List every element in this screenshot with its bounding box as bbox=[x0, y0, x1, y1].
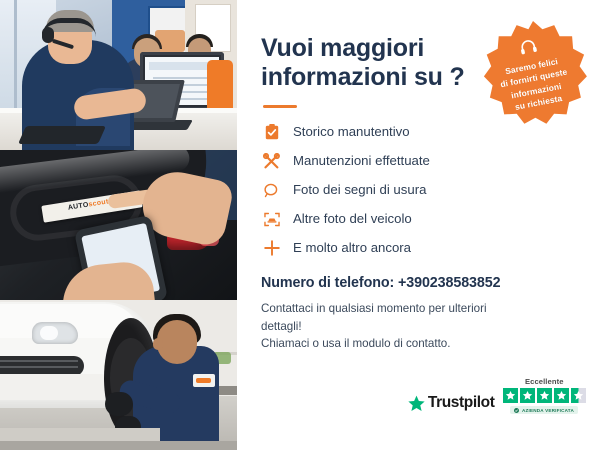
star-3-icon bbox=[537, 388, 553, 404]
verified-check-icon bbox=[514, 408, 519, 413]
car-frame-icon bbox=[261, 209, 282, 229]
subtext-line-2: Chiamaci o usa il modulo di contatto. bbox=[261, 337, 450, 350]
star-4-icon bbox=[554, 388, 570, 404]
plus-icon bbox=[261, 238, 282, 258]
clipboard-check-icon bbox=[261, 122, 282, 142]
contact-subtext: Contattaci in qualsiasi momento per ulte… bbox=[261, 300, 521, 353]
trustpilot-brand: Trustpilot bbox=[428, 394, 495, 412]
title-divider bbox=[263, 105, 297, 108]
list-item: Manutenzioni effettuate bbox=[261, 151, 574, 171]
magnifier-icon bbox=[261, 180, 282, 200]
trustpilot-score-block: Eccellente bbox=[503, 377, 587, 415]
feature-label: E molto altro ancora bbox=[293, 240, 411, 256]
star-5-icon bbox=[571, 388, 587, 404]
content-panel: Saremo felici di fornirti queste informa… bbox=[237, 0, 600, 450]
feature-list: Storico manutentivo Manutenzioni effettu… bbox=[261, 122, 574, 258]
star-1-icon bbox=[503, 388, 519, 404]
info-on-request-badge: Saremo felici di fornirti queste informa… bbox=[478, 19, 588, 129]
phone-label: Numero di telefono: bbox=[261, 275, 394, 291]
star-rating bbox=[503, 388, 587, 404]
headline-line-1: Vuoi maggiori bbox=[261, 34, 424, 62]
rating-caption: Eccellente bbox=[525, 377, 564, 386]
trustpilot-logo: Trustpilot bbox=[408, 394, 495, 414]
feature-label: Altre foto del veicolo bbox=[293, 211, 412, 227]
trustpilot-star-icon bbox=[408, 395, 425, 412]
vehicle-inspection-photo: AUTOscout bbox=[0, 150, 237, 300]
verified-company-badge: AZIENDA VERIFICATA bbox=[510, 406, 578, 414]
star-2-icon bbox=[520, 388, 536, 404]
trustpilot-rating[interactable]: Trustpilot Eccellente bbox=[408, 377, 586, 415]
phone-number[interactable]: +390238583852 bbox=[398, 275, 500, 291]
headline-line-2: informazioni su ? bbox=[261, 63, 465, 91]
headset-icon bbox=[517, 37, 539, 60]
call-center-agents-photo bbox=[0, 0, 237, 150]
list-item: Foto dei segni di usura bbox=[261, 180, 574, 200]
phone-number-line: Numero di telefono: +390238583852 bbox=[261, 275, 574, 291]
page-title: Vuoi maggiori informazioni su ? bbox=[261, 34, 476, 92]
promo-banner: AUTOscout bbox=[0, 0, 600, 450]
feature-label: Storico manutentivo bbox=[293, 124, 410, 140]
subtext-line-1: Contattaci in qualsiasi momento per ulte… bbox=[261, 302, 487, 333]
tools-cross-icon bbox=[261, 151, 282, 171]
feature-label: Foto dei segni di usura bbox=[293, 182, 426, 198]
list-item: Altre foto del veicolo bbox=[261, 209, 574, 229]
list-item: E molto altro ancora bbox=[261, 238, 574, 258]
mechanic-wheel-photo bbox=[0, 300, 237, 450]
feature-label: Manutenzioni effettuate bbox=[293, 153, 430, 169]
photo-column: AUTOscout bbox=[0, 0, 237, 450]
strip-brand-text: AUTOscout bbox=[67, 198, 109, 211]
verified-text: AZIENDA VERIFICATA bbox=[522, 408, 574, 413]
